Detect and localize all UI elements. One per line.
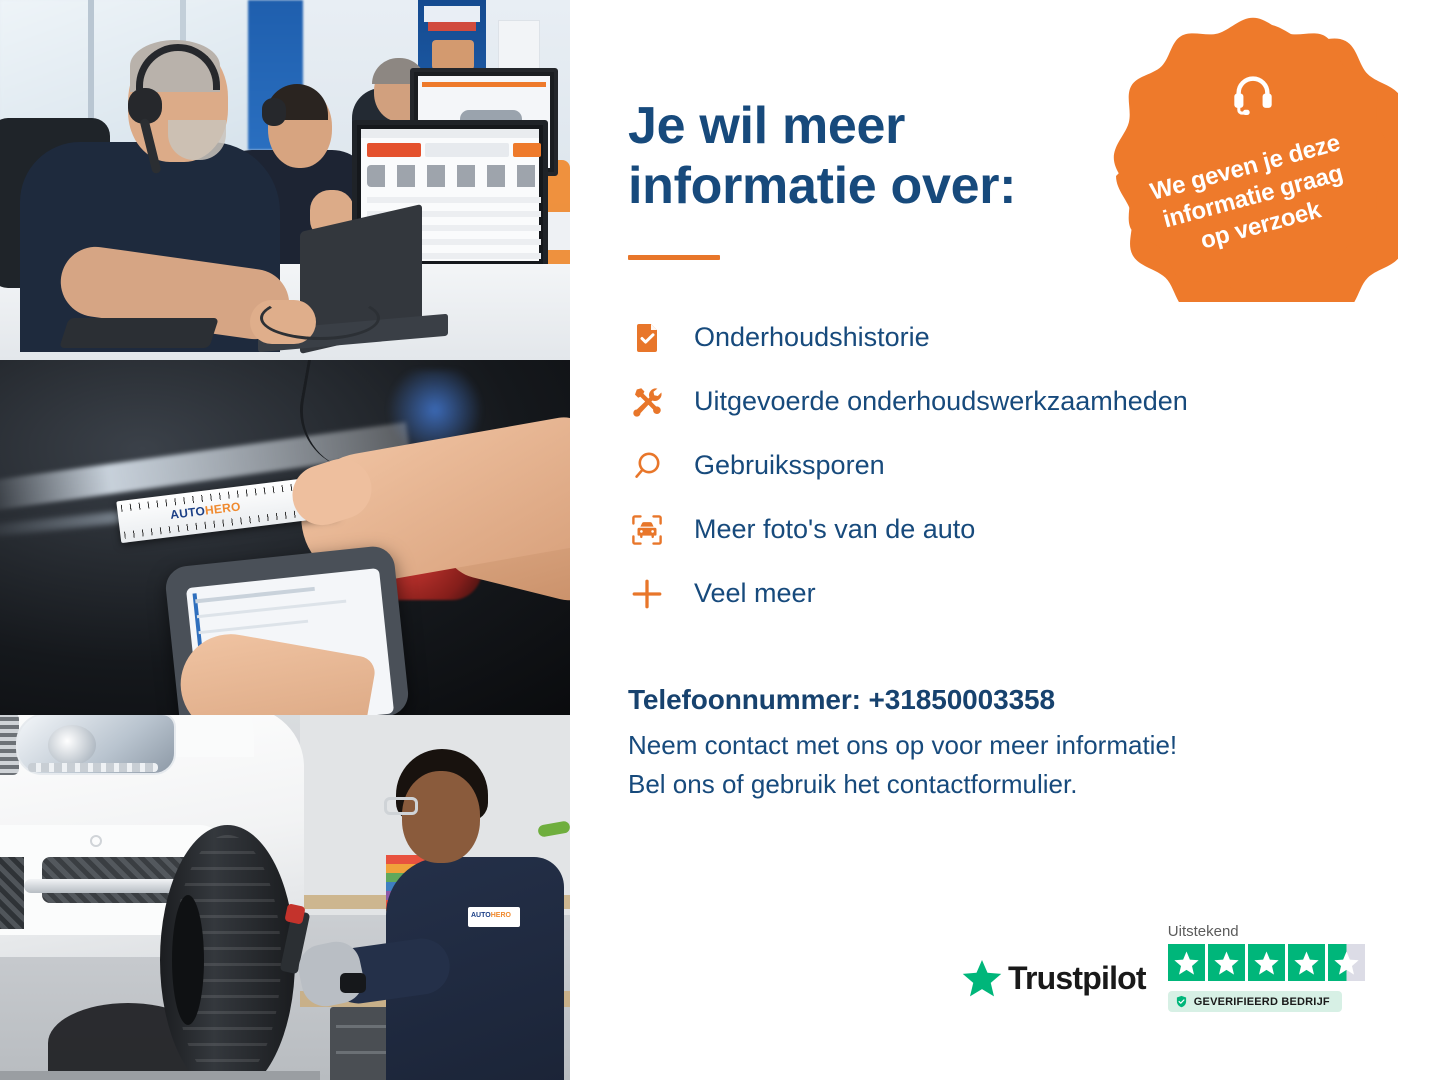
- trustpilot-brand-name: Trustpilot: [1008, 960, 1146, 997]
- trustpilot-widget[interactable]: Trustpilot Uitstekend: [962, 923, 1365, 1012]
- verified-shield-icon: [1175, 995, 1188, 1008]
- contact-description: Neem contact met ons op voor meer inform…: [628, 726, 1368, 804]
- badge-text: We geven je deze informatie graag op ver…: [1138, 126, 1369, 268]
- ruler-logo-hero: HERO: [204, 499, 241, 517]
- ruler-logo-auto: AUTO: [169, 504, 205, 522]
- promo-page: AUTOHERO: [0, 0, 1440, 1080]
- badge-content: We geven je deze informatie graag op ver…: [1108, 12, 1398, 302]
- list-item-label: Onderhoudshistorie: [694, 322, 930, 353]
- verified-company-badge: GEVERIFIEERD BEDRIJF: [1168, 991, 1342, 1012]
- patch-logo-hero: HERO: [491, 912, 511, 919]
- contact-line-2: Bel ons of gebruik het contactformulier.: [628, 769, 1077, 799]
- tire-inspection-photo: AUTOHERO: [0, 715, 570, 1080]
- list-item-label: Meer foto's van de auto: [694, 514, 975, 545]
- call-center-agents-photo: [0, 0, 570, 360]
- star-filled: [1248, 944, 1285, 981]
- magnifier-icon: [628, 447, 666, 485]
- star-filled: [1208, 944, 1245, 981]
- photo-column: AUTOHERO: [0, 0, 570, 1080]
- list-item: Onderhoudshistorie: [628, 306, 1376, 370]
- list-item-label: Gebruikssporen: [694, 450, 885, 481]
- plus-icon: [628, 575, 666, 613]
- trustpilot-stars: [1168, 944, 1365, 981]
- content-panel: Je wil meer informatie over: Onderhoudsh…: [570, 0, 1440, 1080]
- damage-inspection-photo: AUTOHERO: [0, 360, 570, 715]
- trustpilot-rating-label: Uitstekend: [1168, 923, 1365, 940]
- list-item-label: Veel meer: [694, 578, 816, 609]
- request-info-badge: We geven je deze informatie graag op ver…: [1108, 12, 1398, 302]
- list-item-label: Uitgevoerde onderhoudswerkzaamheden: [694, 386, 1188, 417]
- wrench-screwdriver-icon: [628, 383, 666, 421]
- headset-icon: [1230, 70, 1276, 116]
- contact-line-1: Neem contact met ons op voor meer inform…: [628, 730, 1177, 760]
- document-check-icon: [628, 319, 666, 357]
- list-item: Meer foto's van de auto: [628, 498, 1376, 562]
- trustpilot-logo: Trustpilot: [962, 958, 1146, 1012]
- verified-company-label: GEVERIFIEERD BEDRIJF: [1194, 996, 1330, 1008]
- star-filled: [1168, 944, 1205, 981]
- patch-logo-auto: AUTO: [471, 912, 491, 919]
- star-filled: [1288, 944, 1325, 981]
- car-scan-icon: [628, 511, 666, 549]
- star-half: [1328, 944, 1365, 981]
- autohero-uniform-patch: AUTOHERO: [468, 907, 520, 927]
- list-item: Uitgevoerde onderhoudswerkzaamheden: [628, 370, 1376, 434]
- page-title: Je wil meer informatie over:: [628, 96, 1098, 217]
- headline-line-1: Je wil meer: [628, 97, 905, 155]
- list-item: Veel meer: [628, 562, 1376, 626]
- phone-number[interactable]: Telefoonnummer: +31850003358: [628, 684, 1376, 716]
- feature-list: Onderhoudshistorie Uitgevoerde onderhoud…: [628, 306, 1376, 626]
- trustpilot-rating: Uitstekend: [1168, 923, 1365, 1012]
- list-item: Gebruikssporen: [628, 434, 1376, 498]
- trustpilot-star-icon: [962, 958, 1002, 998]
- title-divider: [628, 255, 720, 260]
- headline-line-2: informatie over:: [628, 157, 1016, 215]
- contact-block: Telefoonnummer: +31850003358 Neem contac…: [628, 684, 1376, 804]
